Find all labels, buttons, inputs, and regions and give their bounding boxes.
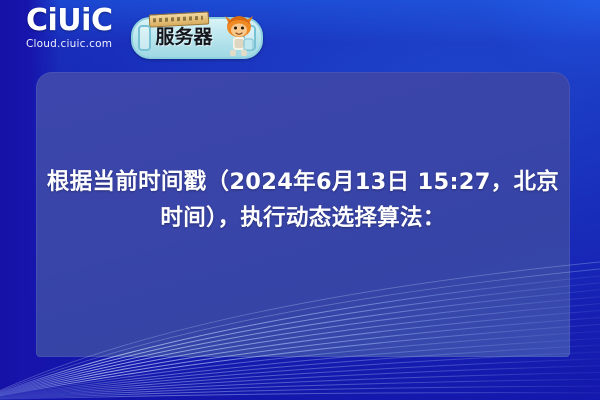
- logo-wordmark: CiUiC: [26, 6, 134, 36]
- logo-domain: Cloud.ciuic.com: [26, 38, 134, 50]
- main-message: 根据当前时间戳（2024年6月13日 15:27，北京时间），执行动态选择算法：: [46, 164, 560, 236]
- screenshot-root: CiUiC Cloud.ciuic.com 服务器: [0, 0, 600, 400]
- header-bar: CiUiC Cloud.ciuic.com 服务器: [0, 0, 600, 72]
- server-badge: 服务器: [131, 17, 263, 59]
- orange-cartoon-mascot-icon: [219, 14, 259, 58]
- site-logo[interactable]: CiUiC Cloud.ciuic.com: [26, 6, 134, 50]
- content-card: 根据当前时间戳（2024年6月13日 15:27，北京时间），执行动态选择算法：: [36, 72, 570, 357]
